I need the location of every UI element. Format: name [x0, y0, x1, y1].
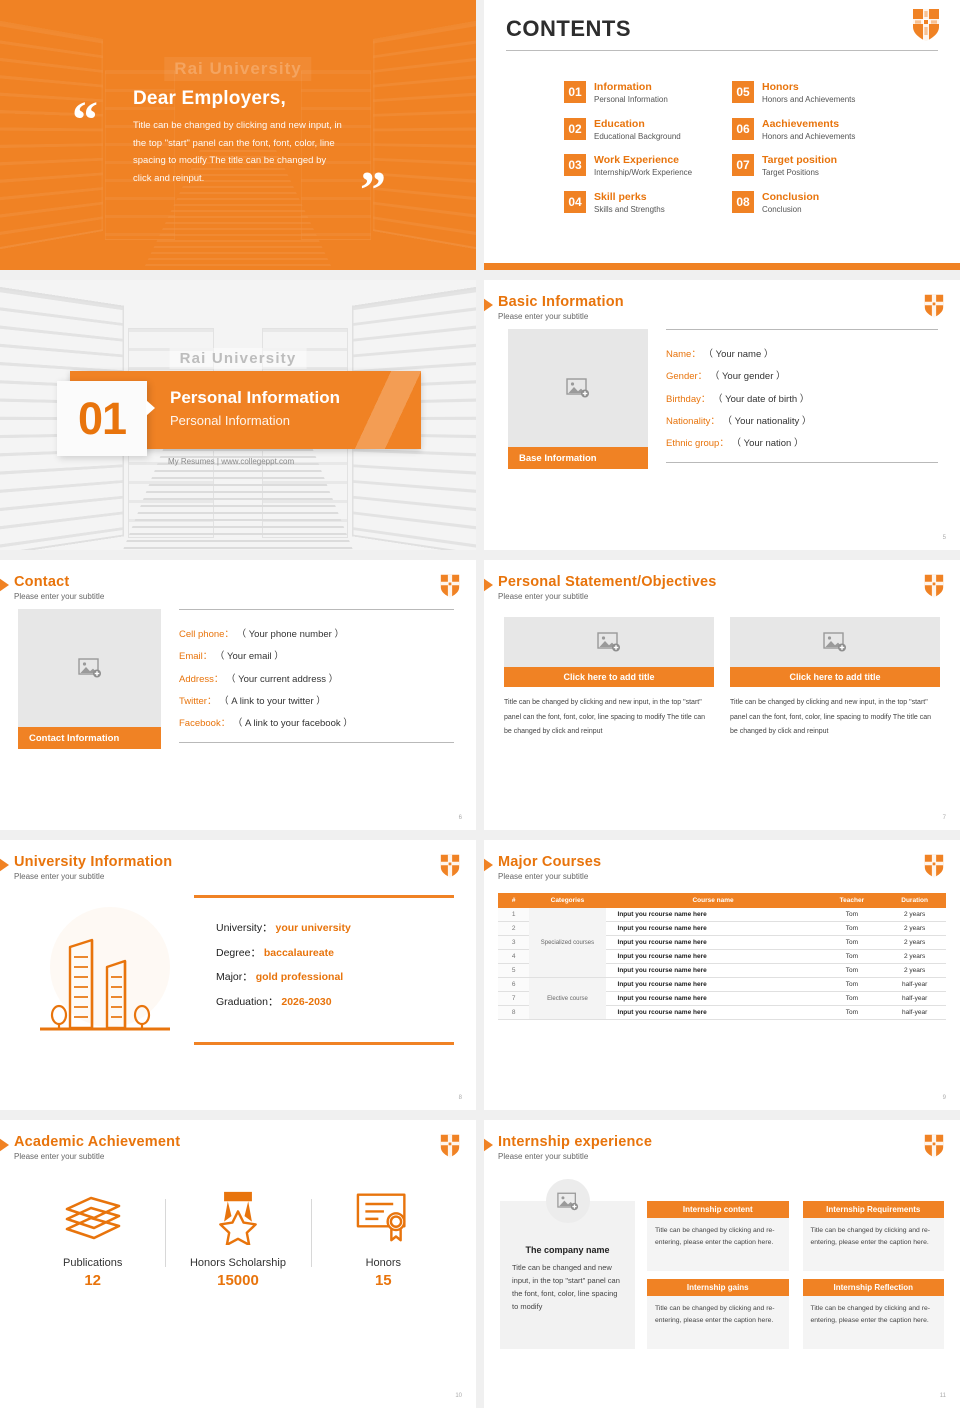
table-header-row: # Categories Course name Teacher Duratio…	[498, 893, 946, 908]
photo-caption: Contact Information	[18, 727, 161, 749]
page-title: Contact	[14, 574, 476, 590]
page-title: Major Courses	[498, 854, 960, 870]
info-row: Cell phone： （ Your phone number ）	[179, 624, 454, 646]
col-index: #	[498, 893, 529, 908]
info-row: Twitter： （ A link to your twitter ）	[179, 691, 454, 713]
cell-teacher: Tom	[821, 992, 884, 1006]
card-heading: Internship Requirements	[803, 1201, 945, 1218]
slide-cover: Rai University “ Dear Employers, Title c…	[0, 0, 476, 270]
slide-academic-achievement: Academic Achievement Please enter your s…	[0, 1120, 476, 1408]
page-title: CONTENTS	[506, 16, 938, 42]
university-shield-icon	[924, 574, 944, 598]
photo-block[interactable]: Base Information	[508, 329, 648, 469]
info-key: Address：	[179, 674, 223, 685]
info-key: Cell phone：	[179, 629, 234, 640]
add-title-button[interactable]: Click here to add title	[504, 667, 714, 687]
contents-item-08[interactable]: 08 Conclusion Conclusion	[732, 191, 886, 216]
contents-item-02[interactable]: 02 Education Educational Background	[564, 118, 718, 143]
info-value[interactable]: （ Your nationality ）	[723, 416, 812, 427]
photo-placeholder[interactable]	[730, 617, 940, 667]
info-value[interactable]: （ Your current address ）	[226, 674, 338, 685]
contents-item-title: Work Experience	[594, 154, 692, 167]
slide-basic-information: Basic Information Please enter your subt…	[484, 280, 960, 550]
info-bottom-rule	[179, 742, 454, 743]
cell-index: 6	[498, 978, 529, 992]
company-description: Title can be changed and new input, in t…	[512, 1261, 623, 1314]
page-number: 8	[459, 1095, 462, 1101]
triangle-marker-icon	[484, 856, 493, 874]
cell-index: 3	[498, 936, 529, 950]
info-row: Email： （ Your email ）	[179, 646, 454, 668]
university-shield-icon	[440, 1134, 460, 1158]
page-title: Personal Statement/Objectives	[498, 574, 960, 590]
contents-item-05[interactable]: 05 Honors Honors and Achievements	[732, 81, 886, 106]
info-value[interactable]: （ Your date of birth ）	[713, 394, 809, 405]
cell-duration: half-year	[883, 1006, 946, 1020]
stat-label: Honors Scholarship	[165, 1257, 310, 1269]
title-divider	[506, 50, 938, 51]
divider-footer: My Resumes | www.collegeppt.com	[168, 457, 294, 466]
row-value[interactable]: 2026-2030	[281, 996, 331, 1008]
books-icon	[20, 1187, 165, 1247]
divider-number: 01	[78, 393, 126, 445]
info-value[interactable]: （ Your nation ）	[731, 438, 803, 449]
cell-teacher: Tom	[821, 964, 884, 978]
page-number: 9	[943, 1095, 946, 1101]
cover-body-text: Title can be changed by clicking and new…	[133, 117, 345, 187]
statement-column: Click here to add title Title can be cha…	[730, 617, 940, 740]
internship-card: Internship content Title can be changed …	[647, 1201, 789, 1271]
info-key: Nationality：	[666, 416, 720, 427]
info-value[interactable]: （ Your gender ）	[710, 371, 786, 382]
university-shield-icon	[440, 854, 460, 878]
cell-teacher: Tom	[821, 950, 884, 964]
page-title: Academic Achievement	[14, 1134, 476, 1150]
info-key: Facebook：	[179, 718, 230, 729]
company-name: The company name	[512, 1245, 623, 1255]
contents-item-subtitle: Internship/Work Experience	[594, 168, 692, 178]
photo-placeholder[interactable]	[508, 329, 648, 447]
stat-value: 15	[311, 1272, 456, 1289]
contents-item-number: 05	[732, 81, 754, 103]
contents-item-number: 02	[564, 118, 586, 140]
stat-honors-scholarship: Honors Scholarship 15000	[165, 1187, 310, 1289]
page-title: University Information	[14, 854, 476, 870]
contents-item-06[interactable]: 06 Aachievements Honors and Achievements	[732, 118, 886, 143]
cell-duration: 2 years	[883, 922, 946, 936]
add-image-icon	[823, 632, 847, 652]
cell-course[interactable]: Input you rcourse name here	[606, 1006, 821, 1020]
table-row: 1 Specialized courses Input you rcourse …	[498, 908, 946, 922]
contents-item-title: Conclusion	[762, 191, 819, 204]
internship-card: Internship Requirements Title can be cha…	[803, 1201, 945, 1271]
contents-item-subtitle: Skills and Strengths	[594, 205, 665, 215]
cell-index: 8	[498, 1006, 529, 1020]
cell-category: Specialized courses	[529, 908, 605, 978]
statement-column: Click here to add title Title can be cha…	[504, 617, 714, 740]
contents-item-number: 01	[564, 81, 586, 103]
page-title: Internship experience	[498, 1134, 960, 1150]
info-bottom-rule	[666, 462, 938, 463]
add-image-icon	[557, 1192, 579, 1211]
slide-header: Personal Statement/Objectives Please ent…	[484, 560, 960, 601]
contents-item-subtitle: Target Positions	[762, 168, 837, 178]
statement-text: Title can be changed by clicking and new…	[504, 696, 714, 740]
stat-honors: Honors 15	[311, 1187, 456, 1289]
cell-course[interactable]: Input you rcourse name here	[606, 950, 821, 964]
row-key: University：	[216, 922, 273, 934]
row-value[interactable]: baccalaureate	[264, 947, 334, 959]
info-key: Birthday：	[666, 394, 710, 405]
cell-category: Elective course	[529, 978, 605, 1020]
stat-label: Publications	[20, 1257, 165, 1269]
cell-course[interactable]: Input you rcourse name here	[606, 978, 821, 992]
university-shield-icon	[924, 854, 944, 878]
internship-content: The company name Title can be changed an…	[484, 1187, 960, 1349]
add-title-button[interactable]: Click here to add title	[730, 667, 940, 687]
cover-title: Dear Employers,	[133, 88, 286, 110]
bottom-rule	[194, 1042, 454, 1045]
cell-teacher: Tom	[821, 922, 884, 936]
info-row: Birthday： （ Your date of birth ）	[666, 389, 938, 411]
info-key: Ethnic group：	[666, 438, 729, 449]
company-photo-placeholder[interactable]	[546, 1179, 590, 1223]
info-row: Nationality： （ Your nationality ）	[666, 411, 938, 433]
card-body: Title can be changed by clicking and re-…	[803, 1218, 945, 1271]
contact-info-list: Cell phone： （ Your phone number ） Email：…	[179, 610, 454, 736]
slide-major-courses: Major Courses Please enter your subtitle…	[484, 840, 960, 1110]
page-title: Basic Information	[498, 294, 960, 310]
row-key: Degree：	[216, 947, 261, 959]
stat-label: Honors	[311, 1257, 456, 1269]
col-teacher: Teacher	[821, 893, 884, 908]
info-row: Name： （ Your name ）	[666, 344, 938, 366]
slide-header: Basic Information Please enter your subt…	[484, 280, 960, 321]
divider-title: Personal Information	[170, 388, 340, 408]
slide-header: University Information Please enter your…	[0, 840, 476, 881]
col-duration: Duration	[883, 893, 946, 908]
cell-course[interactable]: Input you rcourse name here	[606, 908, 821, 922]
add-image-icon	[78, 658, 102, 678]
cell-duration: half-year	[883, 992, 946, 1006]
cell-teacher: Tom	[821, 936, 884, 950]
info-key: Email：	[179, 651, 212, 662]
row-value[interactable]: your university	[276, 922, 351, 934]
internship-cards: Internship content Title can be changed …	[647, 1201, 944, 1349]
contents-item-number: 04	[564, 191, 586, 213]
slide-header: Major Courses Please enter your subtitle	[484, 840, 960, 881]
info-row: Facebook： （ A link to your facebook ）	[179, 713, 454, 735]
cell-index: 4	[498, 950, 529, 964]
cell-teacher: Tom	[821, 1006, 884, 1020]
university-content: University： your university Degree： bacc…	[0, 881, 476, 1045]
university-list: University： your university Degree： bacc…	[194, 898, 454, 1042]
university-details: University： your university Degree： bacc…	[182, 895, 454, 1045]
stat-publications: Publications 12	[20, 1187, 165, 1289]
slide-header: Academic Achievement Please enter your s…	[0, 1120, 476, 1161]
cell-duration: 2 years	[883, 964, 946, 978]
university-row: University： your university	[216, 916, 454, 941]
contents-item-subtitle: Conclusion	[762, 205, 819, 215]
triangle-marker-icon	[0, 1136, 9, 1154]
contents-item-subtitle: Honors and Achievements	[762, 132, 855, 142]
university-shield-icon	[440, 574, 460, 598]
contents-item-number: 06	[732, 118, 754, 140]
certificate-icon	[311, 1187, 456, 1247]
stat-value: 12	[20, 1272, 165, 1289]
cell-course[interactable]: Input you rcourse name here	[606, 992, 821, 1006]
divider-number-box: 01	[57, 381, 147, 456]
slide-contact: Contact Please enter your subtitle	[0, 560, 476, 830]
cell-duration: half-year	[883, 978, 946, 992]
page-number: 5	[943, 535, 946, 541]
info-key: Gender：	[666, 371, 707, 382]
cell-teacher: Tom	[821, 908, 884, 922]
internship-card: Internship gains Title can be changed by…	[647, 1279, 789, 1349]
slide-deck: Rai University “ Dear Employers, Title c…	[0, 0, 960, 1408]
contents-item-title: Target position	[762, 154, 837, 167]
university-shield-icon	[912, 8, 940, 42]
divider-subtitle: Personal Information	[170, 413, 290, 428]
page-number: 6	[459, 815, 462, 821]
slide-internship-experience: Internship experience Please enter your …	[484, 1120, 960, 1408]
courses-table: # Categories Course name Teacher Duratio…	[498, 893, 946, 1020]
cell-course[interactable]: Input you rcourse name here	[606, 964, 821, 978]
contents-item-subtitle: Personal Information	[594, 95, 668, 105]
card-heading: Internship content	[647, 1201, 789, 1218]
slide-header: Contact Please enter your subtitle	[0, 560, 476, 601]
quote-close-icon: ”	[360, 165, 386, 217]
contents-item-subtitle: Educational Background	[594, 132, 681, 142]
info-value[interactable]: （ Your phone number ）	[237, 629, 344, 640]
triangle-marker-icon	[484, 576, 493, 594]
contents-item-title: Skill perks	[594, 191, 665, 204]
slide-section-divider: Rai University 01 Personal Information P…	[0, 280, 476, 550]
cell-teacher: Tom	[821, 978, 884, 992]
page-subtitle: Please enter your subtitle	[498, 592, 960, 601]
info-row: Gender： （ Your gender ）	[666, 366, 938, 388]
university-row: Major： gold professional	[216, 965, 454, 990]
achievement-stats: Publications 12 Honors Scholarship 15000	[0, 1161, 476, 1289]
table-row: 6 Elective course Input you rcourse name…	[498, 978, 946, 992]
cell-course[interactable]: Input you rcourse name here	[606, 922, 821, 936]
cell-duration: 2 years	[883, 950, 946, 964]
card-body: Title can be changed by clicking and re-…	[803, 1296, 945, 1349]
statement-text: Title can be changed by clicking and new…	[730, 696, 940, 740]
page-subtitle: Please enter your subtitle	[14, 1152, 476, 1161]
cell-duration: 2 years	[883, 936, 946, 950]
page-subtitle: Please enter your subtitle	[498, 872, 960, 881]
university-shield-icon	[924, 294, 944, 318]
slide-university-information: University Information Please enter your…	[0, 840, 476, 1110]
contents-item-07[interactable]: 07 Target position Target Positions	[732, 154, 886, 179]
contents-item-04[interactable]: 04 Skill perks Skills and Strengths	[564, 191, 718, 216]
card-heading: Internship gains	[647, 1279, 789, 1296]
info-row: Ethnic group： （ Your nation ）	[666, 433, 938, 455]
add-image-icon	[597, 632, 621, 652]
info-value[interactable]: （ A link to your facebook ）	[233, 718, 353, 729]
page-subtitle: Please enter your subtitle	[14, 872, 476, 881]
contents-item-01[interactable]: 01 Information Personal Information	[564, 81, 718, 106]
page-subtitle: Please enter your subtitle	[498, 1152, 960, 1161]
add-image-icon	[566, 378, 590, 398]
contents-item-number: 03	[564, 154, 586, 176]
col-course: Course name	[606, 893, 821, 908]
medal-star-icon	[165, 1187, 310, 1247]
triangle-marker-icon	[484, 296, 493, 314]
slide-header: Internship experience Please enter your …	[484, 1120, 960, 1161]
triangle-marker-icon	[0, 576, 9, 594]
triangle-marker-icon	[484, 1136, 493, 1154]
cell-course[interactable]: Input you rcourse name here	[606, 936, 821, 950]
photo-placeholder[interactable]	[18, 609, 161, 727]
contents-list: 01 Information Personal Information 05 H…	[506, 81, 938, 215]
quote-open-icon: “	[72, 95, 98, 147]
photo-caption: Base Information	[508, 447, 648, 469]
row-value[interactable]: gold professional	[256, 971, 344, 983]
contents-item-subtitle: Honors and Achievements	[762, 95, 855, 105]
page-subtitle: Please enter your subtitle	[498, 312, 960, 321]
info-value[interactable]: （ A link to your twitter ）	[219, 696, 326, 707]
card-body: Title can be changed by clicking and re-…	[647, 1218, 789, 1271]
contents-item-03[interactable]: 03 Work Experience Internship/Work Exper…	[564, 154, 718, 179]
cell-index: 5	[498, 964, 529, 978]
page-number: 11	[940, 1393, 946, 1399]
info-key: Twitter：	[179, 696, 216, 707]
info-value[interactable]: （ Your email ）	[215, 651, 284, 662]
university-shield-icon	[924, 1134, 944, 1158]
row-key: Graduation：	[216, 996, 278, 1008]
divider-watermark: Rai University	[170, 348, 307, 369]
cell-index: 7	[498, 992, 529, 1006]
contents-item-title: Aachievements	[762, 118, 855, 131]
info-value[interactable]: （ Your name ）	[703, 349, 773, 360]
stat-value: 15000	[165, 1272, 310, 1289]
photo-placeholder[interactable]	[504, 617, 714, 667]
basic-info-list: Name： （ Your name ） Gender： （ Your gende…	[666, 330, 938, 456]
triangle-marker-icon	[0, 856, 9, 874]
slide-personal-statement: Personal Statement/Objectives Please ent…	[484, 560, 960, 830]
contents-footer-bar	[484, 263, 960, 270]
info-row: Address： （ Your current address ）	[179, 669, 454, 691]
statement-columns: Click here to add title Title can be cha…	[484, 601, 960, 740]
page-number: 7	[943, 815, 946, 821]
cover-watermark: Rai University	[164, 57, 311, 81]
info-key: Name：	[666, 349, 701, 360]
row-key: Major：	[216, 971, 253, 983]
contents-item-number: 08	[732, 191, 754, 213]
page-number: 10	[455, 1393, 462, 1399]
contents-item-title: Information	[594, 81, 668, 94]
page-subtitle: Please enter your subtitle	[14, 592, 476, 601]
cell-index: 1	[498, 908, 529, 922]
slide-contents: CONTENTS 01 Information Personal Informa…	[484, 0, 960, 270]
internship-card: Internship Reflection Title can be chang…	[803, 1279, 945, 1349]
contents-item-title: Education	[594, 118, 681, 131]
col-categories: Categories	[529, 893, 605, 908]
photo-block[interactable]: Contact Information	[18, 609, 161, 749]
contents-item-title: Honors	[762, 81, 855, 94]
contents-item-number: 07	[732, 154, 754, 176]
chevron-right-icon	[146, 400, 155, 416]
cell-index: 2	[498, 922, 529, 936]
company-card: The company name Title can be changed an…	[500, 1201, 635, 1349]
cell-duration: 2 years	[883, 908, 946, 922]
card-heading: Internship Reflection	[803, 1279, 945, 1296]
card-body: Title can be changed by clicking and re-…	[647, 1296, 789, 1349]
university-row: Degree： baccalaureate	[216, 941, 454, 966]
university-buildings-icon	[32, 895, 182, 1045]
university-row: Graduation： 2026-2030	[216, 990, 454, 1015]
